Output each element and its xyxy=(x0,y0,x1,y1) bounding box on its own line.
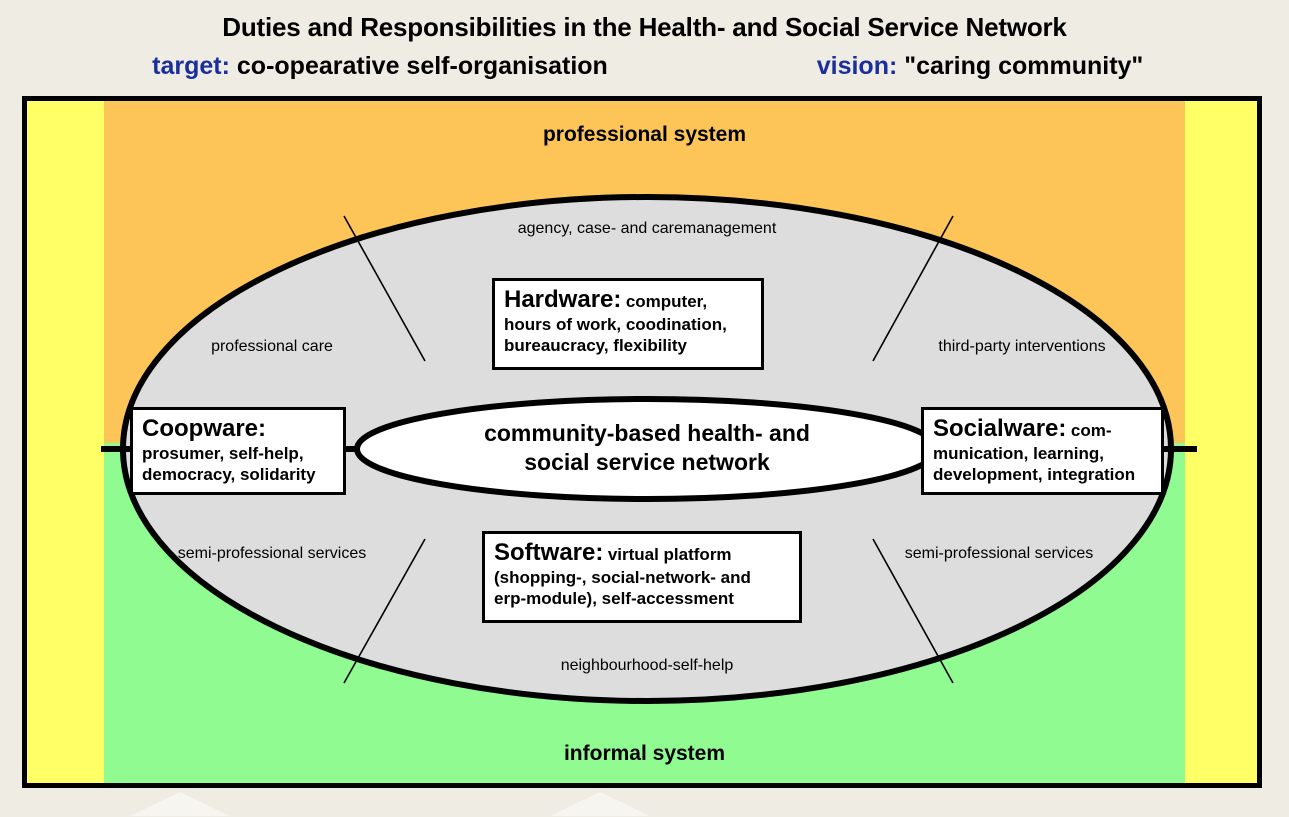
professional-system-label: professional system xyxy=(104,123,1185,147)
diagram-page: Duties and Responsibilities in the Healt… xyxy=(0,0,1289,817)
socialware-first-line: Socialware: com- xyxy=(933,415,1152,443)
vision-statement: vision: "caring community" xyxy=(700,52,1260,81)
segment-label-neighbourhood-self-help: neighbourhood-self-help xyxy=(397,657,897,675)
title-area: Duties and Responsibilities in the Healt… xyxy=(0,0,1289,95)
hardware-line2: hours of work, coodination, xyxy=(504,314,752,335)
segment-label-agency-case-caremanagement: agency, case- and caremanagement xyxy=(382,220,912,238)
coopware-first-line: Coopware: xyxy=(142,415,334,443)
target-value: co-opearative self-organisation xyxy=(237,52,608,80)
socialware-title: Socialware: xyxy=(933,415,1066,442)
segment-label-professional-care: professional care xyxy=(127,338,417,356)
hardware-title: Hardware: xyxy=(504,286,621,313)
bottom-watermark xyxy=(120,790,820,816)
hardware-box: Hardware: computer, hours of work, coodi… xyxy=(492,278,764,370)
diagram-frame: professional system informal system agen… xyxy=(22,96,1262,788)
software-box: Software: virtual platform (shopping-, s… xyxy=(482,531,802,623)
target-key: target: xyxy=(152,52,230,80)
socialware-line3: development, integration xyxy=(933,464,1152,485)
socialware-box: Socialware: com- munication, learning, d… xyxy=(921,407,1164,495)
core-network-label: community-based health- and social servi… xyxy=(357,419,937,477)
informal-system-label: informal system xyxy=(104,742,1185,766)
vision-key: vision: xyxy=(817,52,898,80)
software-line2: (shopping-, social-network- and xyxy=(494,567,790,588)
subtitle-row: target: co-opearative self-organisation … xyxy=(0,52,1289,86)
hardware-first-line: Hardware: computer, xyxy=(504,286,752,314)
software-line1: virtual platform xyxy=(608,545,732,564)
segment-label-semi-professional-services-right: semi-professional services xyxy=(849,545,1149,563)
socialware-line2: munication, learning, xyxy=(933,443,1152,464)
vision-value: "caring community" xyxy=(904,52,1143,80)
software-first-line: Software: virtual platform xyxy=(494,539,790,567)
coopware-box: Coopware: prosumer, self-help, democracy… xyxy=(130,407,346,495)
target-statement: target: co-opearative self-organisation xyxy=(60,52,700,81)
coopware-line2: prosumer, self-help, xyxy=(142,443,334,464)
segment-label-third-party-interventions: third-party interventions xyxy=(877,338,1167,356)
segment-label-semi-professional-services-left: semi-professional services xyxy=(122,545,422,563)
page-title: Duties and Responsibilities in the Healt… xyxy=(0,12,1289,43)
hardware-line1: computer, xyxy=(626,292,707,311)
socialware-line1: com- xyxy=(1071,421,1112,440)
core-network-line1: community-based health- and xyxy=(357,419,937,448)
coopware-line3: democracy, solidarity xyxy=(142,464,334,485)
software-line3: erp-module), self-accessment xyxy=(494,588,790,609)
software-title: Software: xyxy=(494,539,603,566)
coopware-title: Coopware: xyxy=(142,415,266,442)
core-network-line2: social service network xyxy=(357,448,937,477)
hardware-line3: bureaucracy, flexibility xyxy=(504,335,752,356)
